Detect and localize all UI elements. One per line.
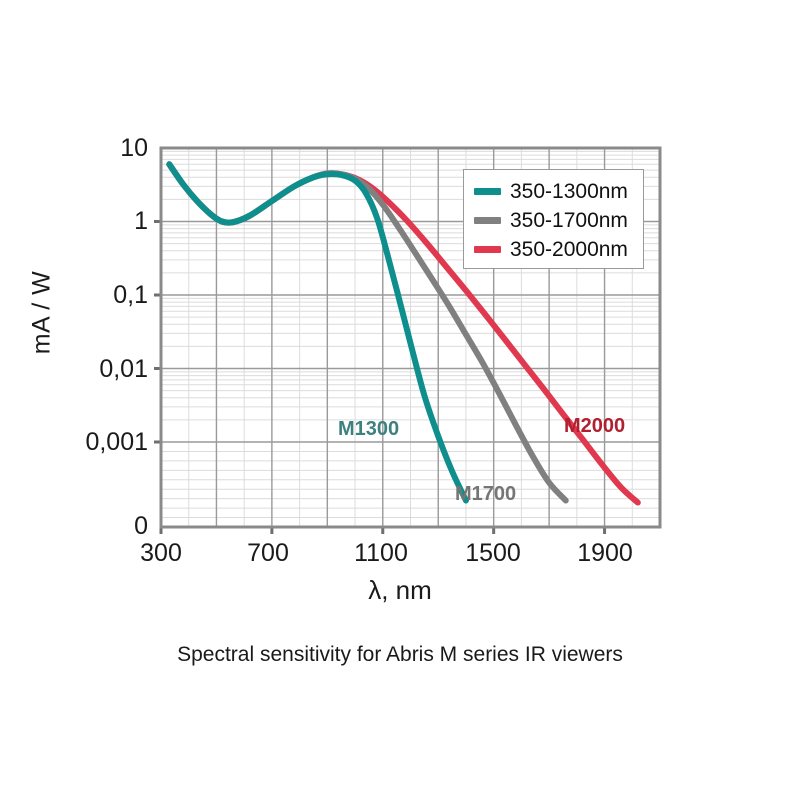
legend-label-350-1300nm: 350-1300nm bbox=[510, 180, 628, 204]
legend-item-350-2000nm: 350-2000nm bbox=[464, 235, 643, 264]
legend-swatch-350-1300nm bbox=[474, 188, 501, 195]
legend: 350-1300nm 350-1700nm 350-2000nm bbox=[463, 169, 644, 269]
legend-swatch-350-1700nm bbox=[474, 217, 501, 224]
legend-item-350-1300nm: 350-1300nm bbox=[464, 177, 643, 206]
legend-item-350-1700nm: 350-1700nm bbox=[464, 206, 643, 235]
legend-swatch-350-2000nm bbox=[474, 246, 501, 253]
plot-area bbox=[0, 0, 800, 800]
figure-caption: Spectral sensitivity for Abris M series … bbox=[0, 643, 800, 667]
annotation-m1300: M1300 bbox=[338, 418, 399, 441]
annotation-m2000: M2000 bbox=[564, 415, 625, 438]
annotation-m1700: M1700 bbox=[455, 483, 516, 506]
legend-label-350-2000nm: 350-2000nm bbox=[510, 238, 628, 262]
legend-label-350-1700nm: 350-1700nm bbox=[510, 209, 628, 233]
chart-figure: mA / W 10 1 0,1 0,01 0,001 0 300 700 110… bbox=[0, 0, 800, 800]
